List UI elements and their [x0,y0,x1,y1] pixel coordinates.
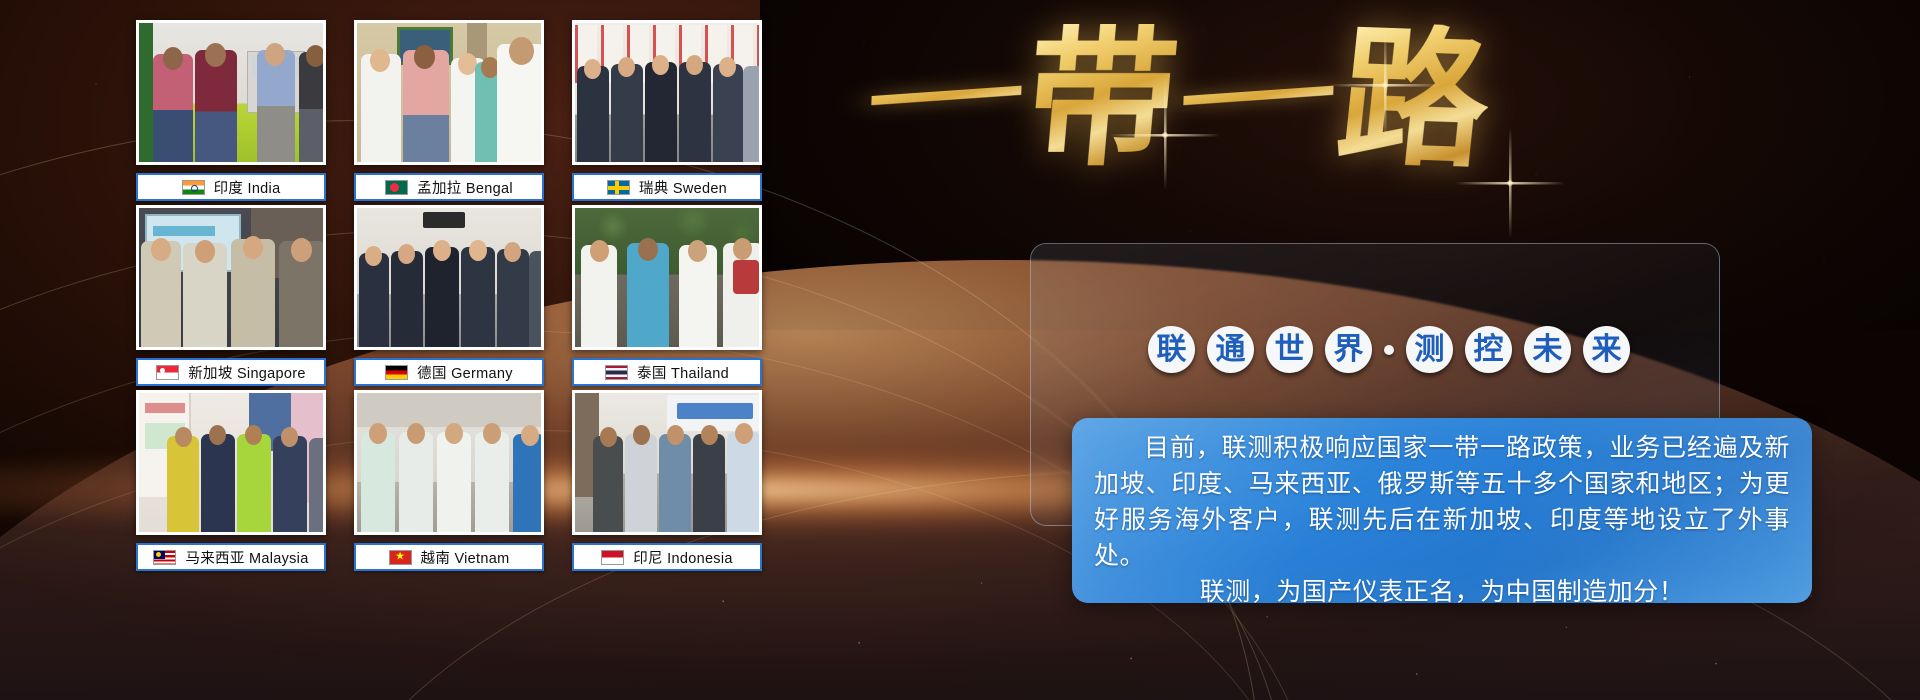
photo-label-singapore: 新加坡 Singapore [136,358,326,386]
photo-singapore[interactable] [136,205,326,350]
description-paragraph-2: 联测，为国产仪表正名，为中国制造加分！ [1094,574,1790,610]
slogan-char-7: 控 [1465,326,1512,373]
slogan-char-9: 来 [1583,326,1630,373]
photo-label-malaysia: 马来西亚 Malaysia [136,543,326,571]
flag-india-icon [182,180,205,195]
headline-calligraphy: 一 带 一 路 [830,6,1530,191]
photo-label-text: 越南 Vietnam [421,547,510,568]
photo-label-text: 马来西亚 Malaysia [185,547,308,568]
flag-indonesia-icon [601,550,624,565]
photo-label-text: 印度 India [214,177,281,198]
gallery-item-indonesia[interactable]: 印尼 Indonesia [572,390,762,571]
photo-label-vietnam: 越南 Vietnam [354,543,544,571]
headline-char-1: 一 [865,52,1026,145]
photo-bengal[interactable] [354,20,544,165]
gallery-item-vietnam[interactable]: 越南 Vietnam [354,390,544,571]
photo-sweden[interactable] [572,20,762,165]
description-paragraph-1: 目前，联测积极响应国家一带一路政策，业务已经遍及新加坡、印度、马来西亚、俄罗斯等… [1094,430,1790,574]
photo-germany[interactable] [354,205,544,350]
slogan-badges: 联 通 世 界 测 控 未 来 [1148,326,1630,373]
photo-label-germany: 德国 Germany [354,358,544,386]
gallery-item-sweden[interactable]: 瑞典 Sweden [572,20,762,201]
slogan-char-3: 世 [1266,326,1313,373]
gallery-item-malaysia[interactable]: 马来西亚 Malaysia [136,390,326,571]
photo-label-bengal: 孟加拉 Bengal [354,173,544,201]
slogan-char-2: 通 [1207,326,1254,373]
slogan-char-4: 界 [1325,326,1372,373]
gallery-item-bengal[interactable]: 孟加拉 Bengal [354,20,544,201]
flag-malaysia-icon [153,550,176,565]
photo-label-text: 德国 Germany [417,362,513,383]
photo-label-text: 新加坡 Singapore [188,362,306,383]
slogan-char-6: 测 [1406,326,1453,373]
photo-label-text: 孟加拉 Bengal [417,177,513,198]
photo-vietnam[interactable] [354,390,544,535]
slogan-char-1: 联 [1148,326,1195,373]
flag-germany-icon [385,365,408,380]
flag-vietnam-icon [389,550,412,565]
gallery-item-singapore[interactable]: 新加坡 Singapore [136,205,326,386]
flag-singapore-icon [156,365,179,380]
banner-stage: 印度 India [0,0,1920,700]
headline-char-4: 路 [1331,21,1496,176]
photo-label-sweden: 瑞典 Sweden [572,173,762,201]
gallery-item-germany[interactable]: 德国 Germany [354,205,544,386]
photo-label-indonesia: 印尼 Indonesia [572,543,762,571]
gallery-item-thailand[interactable]: 泰国 Thailand [572,205,762,386]
flag-sweden-icon [607,180,630,195]
gallery-item-india[interactable]: 印度 India [136,20,326,201]
photo-india[interactable] [136,20,326,165]
headline-char-2: 带 [1020,24,1183,174]
flag-bangladesh-icon [385,180,408,195]
photo-label-text: 瑞典 Sweden [639,177,727,198]
photo-label-india: 印度 India [136,173,326,201]
photo-label-text: 泰国 Thailand [637,362,729,383]
photo-thailand[interactable] [572,205,762,350]
photo-label-thailand: 泰国 Thailand [572,358,762,386]
photo-indonesia[interactable] [572,390,762,535]
slogan-char-8: 未 [1524,326,1571,373]
photo-label-text: 印尼 Indonesia [633,547,733,568]
description-box: 目前，联测积极响应国家一带一路政策，业务已经遍及新加坡、印度、马来西亚、俄罗斯等… [1072,418,1812,603]
photo-gallery-grid: 印度 India [136,20,762,580]
photo-malaysia[interactable] [136,390,326,535]
flag-thailand-icon [605,365,628,380]
slogan-separator-dot [1384,345,1394,355]
headline-char-3: 一 [1177,52,1338,145]
